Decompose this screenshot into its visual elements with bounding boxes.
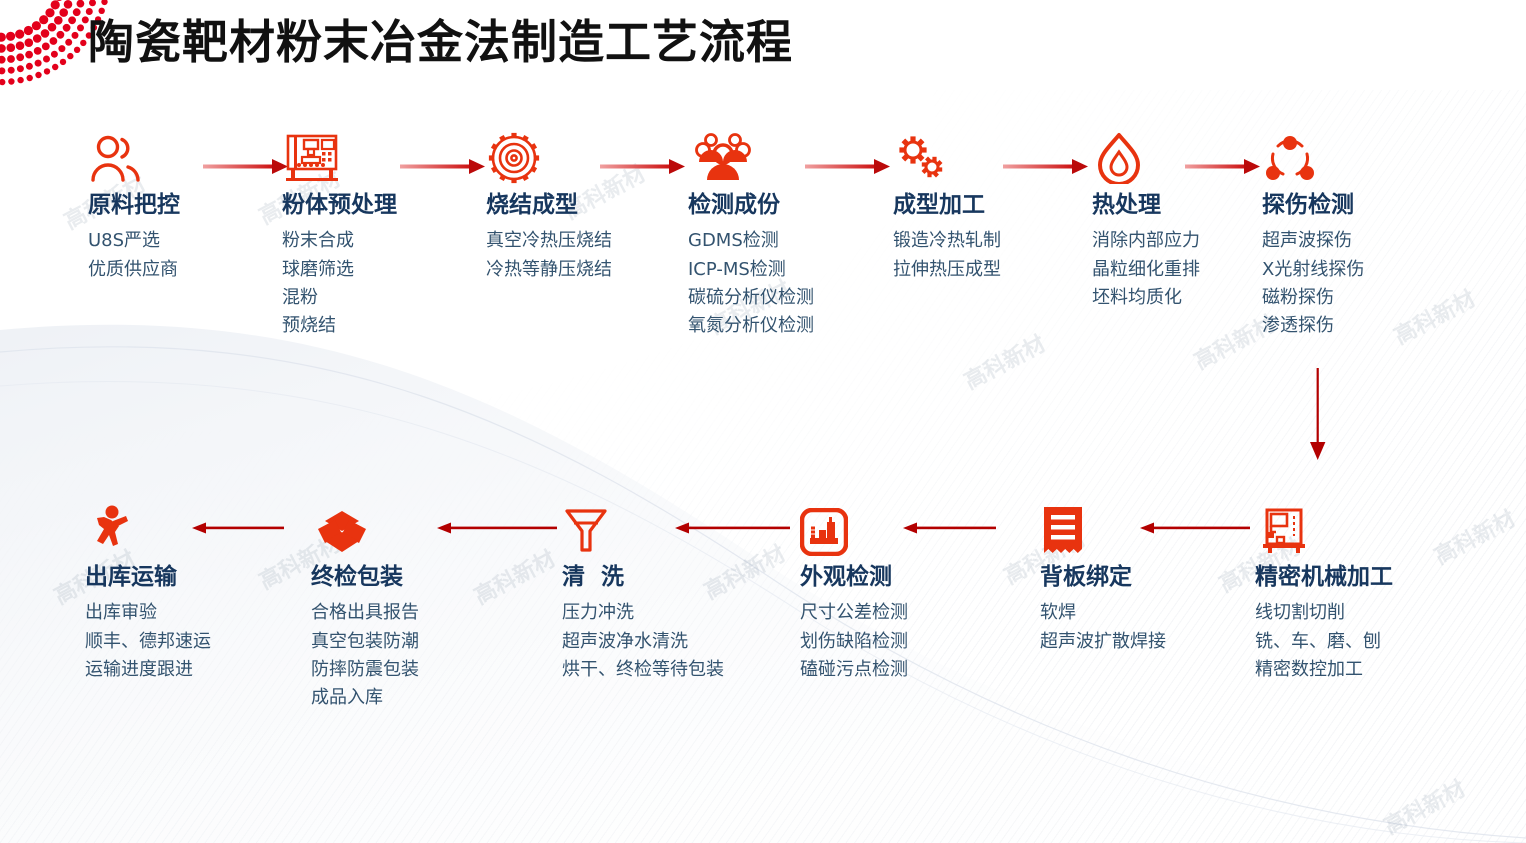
step-title: 热处理 (1092, 192, 1200, 218)
step-title: 检测成份 (688, 192, 814, 218)
step-detail-item: 冷热等静压烧结 (486, 256, 612, 284)
process-step-composition-inspection[interactable]: 检测成份GDMS检测ICP-MS检测碳硫分析仪检测氧氮分析仪检测 (688, 128, 814, 340)
step-detail-item: 球磨筛选 (282, 256, 397, 284)
step-detail-item: 成品入库 (311, 684, 419, 712)
cnc-machine-icon (1255, 500, 1393, 556)
step-title: 出库运输 (85, 564, 211, 590)
receipt-icon (1040, 500, 1166, 556)
watermark-text: 高科新材 (958, 326, 1051, 396)
step-detail-item: 磕碰污点检测 (800, 656, 908, 684)
flow-arrow-left-4 (903, 519, 996, 542)
step-detail-item: 压力冲洗 (562, 599, 724, 627)
step-detail-item: 锻造冷热轧制 (893, 227, 1001, 255)
watermark-text: 高科新材 (1428, 501, 1521, 571)
flow-arrow-right-2 (400, 157, 485, 182)
press-machine-icon (282, 128, 397, 184)
step-detail-item: 预烧结 (282, 312, 397, 340)
step-detail-list: 出库审验顺丰、德邦速运运输进度跟进 (85, 599, 211, 683)
step-detail-item: X光射线探伤 (1262, 256, 1364, 284)
step-detail-item: 精密数控加工 (1255, 656, 1393, 684)
process-step-flaw-detection[interactable]: 探伤检测超声波探伤X光射线探伤磁粉探伤渗透探伤 (1262, 128, 1364, 340)
step-detail-item: 合格出具报告 (311, 599, 419, 627)
page-title: 陶瓷靶材粉末冶金法制造工艺流程 (88, 6, 793, 72)
background-swoosh (0, 0, 1526, 843)
step-detail-item: 线切割切削 (1255, 599, 1393, 627)
page-header: 陶瓷靶材粉末冶金法制造工艺流程 (0, 0, 1526, 90)
process-step-raw-material-control[interactable]: 原料把控U8S严选优质供应商 (88, 128, 180, 284)
process-step-powder-pretreatment[interactable]: 粉体预处理粉末合成球磨筛选混粉预烧结 (282, 128, 397, 340)
step-detail-item: 晶粒细化重排 (1092, 256, 1200, 284)
step-detail-list: U8S严选优质供应商 (88, 227, 180, 283)
step-detail-list: 超声波探伤X光射线探伤磁粉探伤渗透探伤 (1262, 227, 1364, 339)
step-detail-item: 坯料均质化 (1092, 284, 1200, 312)
process-step-forming-processing[interactable]: 成型加工锻造冷热轧制拉伸热压成型 (893, 128, 1001, 284)
step-detail-item: ICP-MS检测 (688, 256, 814, 284)
flow-arrow-right-5 (1003, 157, 1088, 182)
flow-arrow-down (1305, 368, 1331, 465)
step-detail-list: 尺寸公差检测划伤缺陷检测磕碰污点检测 (800, 599, 908, 683)
flow-arrow-right-1 (203, 157, 288, 182)
step-detail-item: 消除内部应力 (1092, 227, 1200, 255)
process-step-backing-plate-bonding[interactable]: 背板绑定软焊超声波扩散焊接 (1040, 500, 1166, 656)
step-title: 烧结成型 (486, 192, 612, 218)
step-detail-item: U8S严选 (88, 227, 180, 255)
step-title: 粉体预处理 (282, 192, 397, 218)
step-detail-item: 渗透探伤 (1262, 312, 1364, 340)
step-detail-item: 氧氮分析仪检测 (688, 312, 814, 340)
flame-icon (1092, 128, 1200, 184)
process-step-cleaning[interactable]: 清洗压力冲洗超声波净水清洗烘干、终检等待包装 (562, 500, 724, 684)
step-detail-item: 烘干、终检等待包装 (562, 656, 724, 684)
funnel-icon (562, 500, 724, 556)
two-people-icon (88, 128, 180, 184)
step-detail-item: 铣、车、磨、刨 (1255, 628, 1393, 656)
step-title: 外观检测 (800, 564, 908, 590)
step-detail-list: 线切割切削铣、车、磨、刨精密数控加工 (1255, 599, 1393, 683)
flow-arrow-left-2 (437, 519, 557, 542)
gear-target-icon (486, 128, 612, 184)
walking-person-icon (85, 500, 211, 556)
factory-badge-icon (800, 500, 908, 556)
step-title: 背板绑定 (1040, 564, 1166, 590)
step-detail-list: 粉末合成球磨筛选混粉预烧结 (282, 227, 397, 339)
step-detail-list: 软焊超声波扩散焊接 (1040, 599, 1166, 655)
step-detail-item: 真空冷热压烧结 (486, 227, 612, 255)
step-detail-list: GDMS检测ICP-MS检测碳硫分析仪检测氧氮分析仪检测 (688, 227, 814, 339)
step-detail-item: 防摔防震包装 (311, 656, 419, 684)
step-detail-item: 尺寸公差检测 (800, 599, 908, 627)
step-detail-item: 顺丰、德邦速运 (85, 628, 211, 656)
process-step-outbound-transport[interactable]: 出库运输出库审验顺丰、德邦速运运输进度跟进 (85, 500, 211, 684)
watermark-text: 高科新材 (468, 541, 561, 611)
step-detail-item: 混粉 (282, 284, 397, 312)
flow-arrow-right-3 (600, 157, 685, 182)
step-title: 探伤检测 (1262, 192, 1364, 218)
step-title: 原料把控 (88, 192, 180, 218)
step-title: 精密机械加工 (1255, 564, 1393, 590)
process-step-appearance-inspection[interactable]: 外观检测尺寸公差检测划伤缺陷检测磕碰污点检测 (800, 500, 908, 684)
step-detail-item: 划伤缺陷检测 (800, 628, 908, 656)
step-detail-item: 超声波扩散焊接 (1040, 628, 1166, 656)
step-detail-item: 碳硫分析仪检测 (688, 284, 814, 312)
watermark-text: 高科新材 (1378, 771, 1471, 841)
step-title: 清洗 (562, 564, 724, 590)
step-detail-item: 真空包装防潮 (311, 628, 419, 656)
watermark-text: 高科新材 (1388, 281, 1481, 351)
two-gears-icon (893, 128, 1001, 184)
process-step-sintering-forming[interactable]: 烧结成型真空冷热压烧结冷热等静压烧结 (486, 128, 612, 284)
step-detail-list: 真空冷热压烧结冷热等静压烧结 (486, 227, 612, 283)
step-detail-list: 消除内部应力晶粒细化重排坯料均质化 (1092, 227, 1200, 311)
step-title: 成型加工 (893, 192, 1001, 218)
step-detail-item: 超声波净水清洗 (562, 628, 724, 656)
step-detail-item: 出库审验 (85, 599, 211, 627)
step-detail-list: 锻造冷热轧制拉伸热压成型 (893, 227, 1001, 283)
step-detail-item: 磁粉探伤 (1262, 284, 1364, 312)
process-step-precision-machining[interactable]: 精密机械加工线切割切削铣、车、磨、刨精密数控加工 (1255, 500, 1393, 684)
step-detail-item: GDMS检测 (688, 227, 814, 255)
step-detail-list: 压力冲洗超声波净水清洗烘干、终检等待包装 (562, 599, 724, 683)
step-detail-item: 拉伸热压成型 (893, 256, 1001, 284)
step-detail-item: 运输进度跟进 (85, 656, 211, 684)
open-box-icon (311, 500, 419, 556)
background-texture (0, 0, 1526, 843)
step-detail-item: 粉末合成 (282, 227, 397, 255)
step-detail-list: 合格出具报告真空包装防潮防摔防震包装成品入库 (311, 599, 419, 711)
people-group-icon (688, 128, 814, 184)
process-step-final-inspection-packaging[interactable]: 终检包装合格出具报告真空包装防潮防摔防震包装成品入库 (311, 500, 419, 712)
process-step-heat-treatment[interactable]: 热处理消除内部应力晶粒细化重排坯料均质化 (1092, 128, 1200, 312)
step-detail-item: 优质供应商 (88, 256, 180, 284)
step-detail-item: 软焊 (1040, 599, 1166, 627)
flow-arrow-right-4 (805, 157, 890, 182)
step-title: 终检包装 (311, 564, 419, 590)
three-dots-cycle-icon (1262, 128, 1364, 184)
step-detail-item: 超声波探伤 (1262, 227, 1364, 255)
